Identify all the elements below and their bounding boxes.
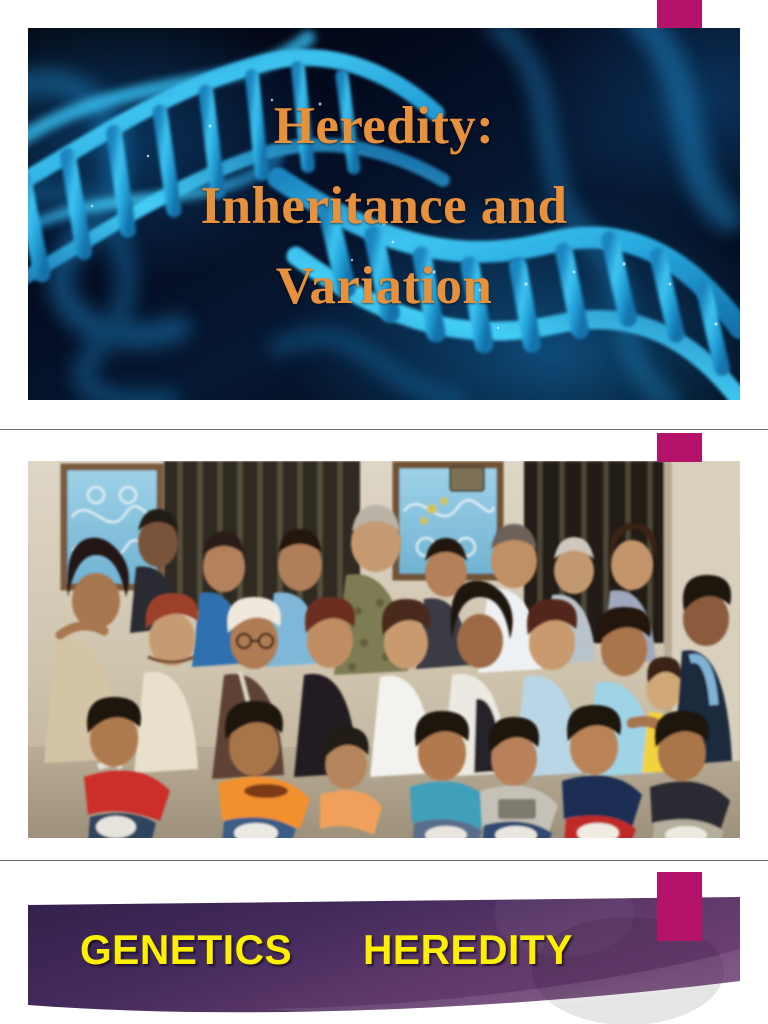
magenta-accent-tab xyxy=(657,433,702,462)
magenta-accent-tab xyxy=(657,872,702,941)
banner-shape xyxy=(28,897,740,1024)
presentation-page: Heredity: Inheritance and Variation xyxy=(0,0,768,1024)
extended-family-group-photo xyxy=(28,461,740,838)
slide-family-photo xyxy=(0,430,768,861)
slide-title: Heredity: Inheritance and Variation xyxy=(0,0,768,430)
dna-helix-illustration xyxy=(28,28,740,400)
dna-double-helix-photo: Heredity: Inheritance and Variation xyxy=(28,28,740,400)
family-photo-illustration xyxy=(28,461,740,838)
genetics-heredity-banner: GENETICS HEREDITY xyxy=(28,897,740,1024)
magenta-accent-tab xyxy=(657,0,702,28)
slide-genetics-heredity: GENETICS HEREDITY xyxy=(0,861,768,1024)
